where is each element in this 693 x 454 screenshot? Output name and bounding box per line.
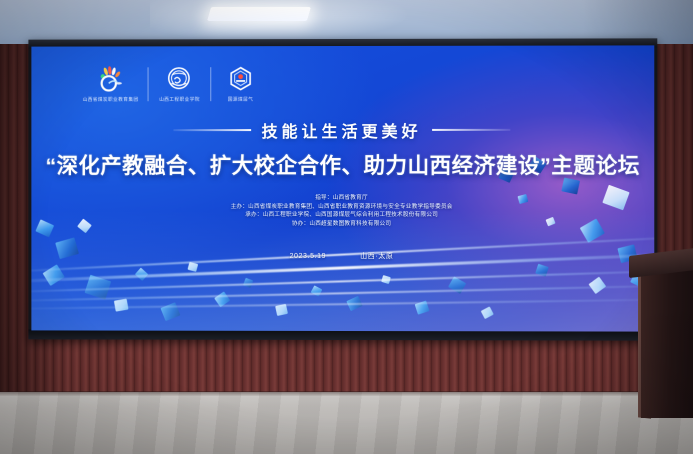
led-screen: 山西省煤炭职业教育集团: [31, 45, 654, 331]
tagline-rule-left: [174, 129, 252, 131]
logo-caption: 山西工程职业学院: [159, 95, 200, 102]
forum-title: “深化产教融合、扩大校企合作、助力山西经济建设”主题论坛: [31, 149, 654, 180]
podium-body: [641, 268, 693, 418]
date-location-row: 2023.5.19 山西·太原: [31, 251, 654, 262]
logo-guoyuan-coalbed-methane: 国源煤层气: [211, 66, 270, 101]
shanxi-vocational-education-logo-icon: [97, 66, 124, 93]
led-screen-bezel: 山西省煤炭职业教育集团: [28, 38, 657, 340]
speaker-podium: [627, 252, 693, 417]
logo-caption: 山西省煤炭职业教育集团: [83, 95, 139, 102]
organizer-list: 指导：山西省教育厅 主办：山西省煤炭职业教育集团、山西省职业教育资源环境与安全专…: [31, 194, 654, 229]
logo-shanxi-engineering-college: 山西工程职业学院: [148, 66, 210, 101]
floor: [0, 392, 693, 454]
organizer-line: 承办：山西工程职业学院、山西国源煤层气综合利用工程技术股份有限公司: [31, 211, 654, 220]
logo-caption: 国源煤层气: [228, 95, 254, 102]
event-location: 山西·太原: [360, 251, 393, 261]
floor-texture: [0, 392, 693, 454]
logo-shanxi-vocational-education: 山西省煤炭职业教育集团: [74, 66, 147, 101]
tagline-row: 技能让生活更美好: [31, 118, 654, 143]
logo-row: 山西省煤炭职业教育集团: [74, 66, 270, 101]
organizer-line: 指导：山西省教育厅: [31, 194, 654, 203]
event-date: 2023.5.19: [290, 252, 327, 259]
shanxi-engineering-college-logo-icon: [166, 66, 193, 93]
tagline-rule-right: [432, 129, 510, 131]
tagline-text: 技能让生活更美好: [262, 118, 422, 142]
floor-edge: [0, 391, 693, 396]
conference-hall-scene: 山西省煤炭职业教育集团: [0, 0, 693, 454]
guoyuan-coalbed-methane-logo-icon: [227, 66, 254, 93]
ceiling-light-panel: [207, 7, 311, 21]
organizer-line: 主办：山西省煤炭职业教育集团、山西省职业教育资源环境与安全专业教学指导委员会: [31, 203, 654, 212]
organizer-line: 协办：山西超星数图教育科技有限公司: [31, 220, 654, 229]
